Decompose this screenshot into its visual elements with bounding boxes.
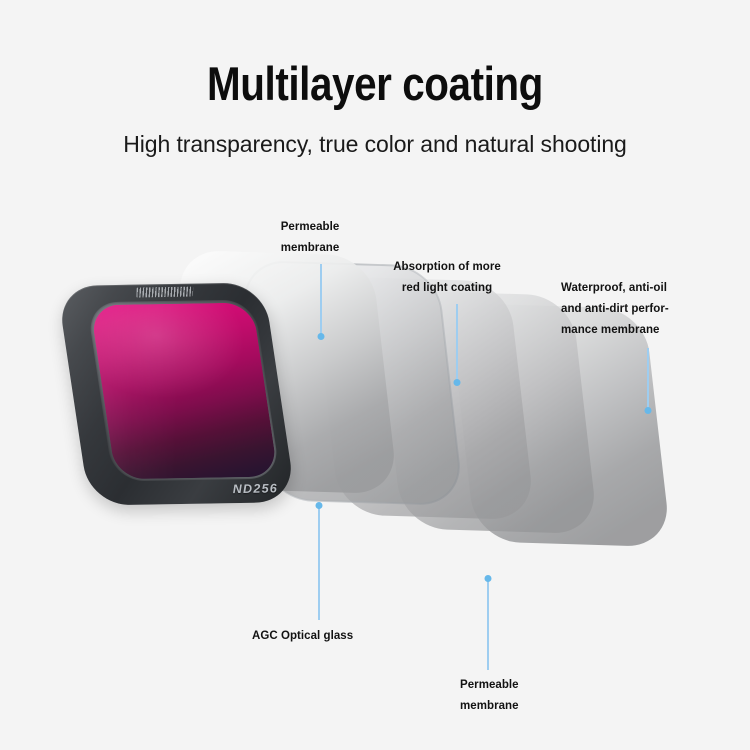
callout-line-2: and anti-dirt perfor- [561, 299, 750, 320]
callout-line-1: Absorption of more [358, 257, 536, 278]
page-subtitle: High transparency, true color and natura… [0, 131, 750, 158]
callout-line-2: membrane [460, 696, 620, 717]
leader-line-permeable-membrane-bottom [487, 578, 489, 670]
leader-line-permeable-membrane-top [320, 264, 322, 336]
callout-label-red-light-coating: Absorption of more red light coating [358, 257, 536, 299]
leader-line-waterproof-membrane [647, 348, 649, 410]
callout-line-1: Waterproof, anti-oil [561, 278, 750, 299]
infographic-canvas: Multilayer coating High transparency, tr… [0, 0, 750, 750]
leader-dot [644, 407, 651, 414]
callout-line-2: membrane [220, 238, 400, 259]
brand-logo-icon [136, 287, 193, 298]
leader-line-agc-optical-glass [318, 505, 320, 620]
page-title: Multilayer coating [53, 58, 698, 110]
callout-label-waterproof-membrane: Waterproof, anti-oil and anti-dirt perfo… [561, 278, 750, 341]
callout-line-1: Permeable [220, 217, 400, 238]
nd-rating-label: ND256 [232, 481, 278, 496]
callout-label-permeable-membrane-bottom: Permeable membrane [460, 675, 620, 717]
leader-dot [315, 502, 322, 509]
callout-line-3: mance membrane [561, 320, 750, 341]
callout-line-2: red light coating [358, 278, 536, 299]
callout-line-1: AGC Optical glass [252, 626, 452, 647]
callout-label-agc-optical-glass: AGC Optical glass [252, 626, 452, 647]
leader-line-red-light-coating [456, 304, 458, 382]
filter-glass [89, 302, 277, 479]
nd-filter-product: ND256 [57, 282, 297, 505]
leader-dot [453, 379, 460, 386]
leader-dot [317, 333, 324, 340]
callout-label-permeable-membrane-top: Permeable membrane [220, 217, 400, 259]
layer-3-red-light-coating [312, 276, 535, 520]
leader-dot [484, 575, 491, 582]
callout-line-1: Permeable [460, 675, 620, 696]
